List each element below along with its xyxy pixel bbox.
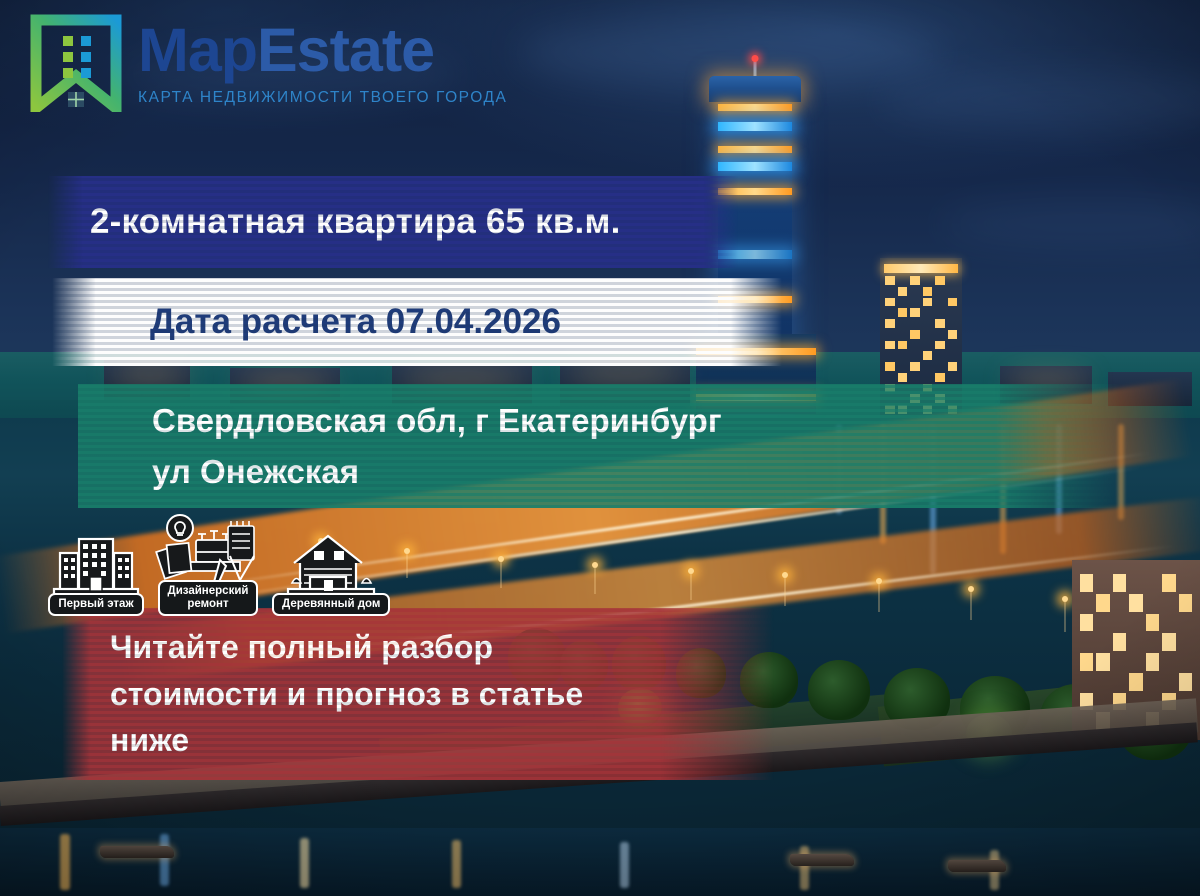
badge-label: Дизайнерский ремонт bbox=[158, 580, 259, 616]
address-line-2: ул Онежская bbox=[152, 446, 359, 497]
cta-banner[interactable]: Читайте полный разбор стоимости и прогно… bbox=[62, 608, 774, 780]
badge-first-floor[interactable]: Первый этаж bbox=[48, 531, 144, 616]
property-title-text: 2-комнатная квартира 65 кв.м. bbox=[90, 202, 738, 242]
brand-name-part1: Map bbox=[138, 16, 257, 84]
brand-tagline: КАРТА НЕДВИЖИМОСТИ ТВОЕГО ГОРОДА bbox=[138, 89, 507, 107]
cta-line-1: Читайте полный разбор bbox=[110, 624, 493, 670]
cta-line-3: ниже bbox=[110, 717, 189, 763]
wooden-house-icon bbox=[280, 531, 382, 599]
feature-badges: Первый этаж bbox=[48, 512, 390, 616]
interior-design-icon bbox=[152, 512, 264, 586]
brand-name-part2: Estate bbox=[257, 16, 434, 84]
address-banner: Свердловская обл, г Екатеринбург ул Онеж… bbox=[78, 384, 1120, 508]
apartment-building-icon bbox=[48, 531, 144, 599]
badge-wooden-house[interactable]: Деревянный дом bbox=[272, 531, 390, 616]
calculation-date-text: Дата расчета 07.04.2026 bbox=[150, 302, 782, 342]
badge-label: Деревянный дом bbox=[272, 593, 390, 616]
cta-line-2: стоимости и прогноз в статье bbox=[110, 671, 583, 717]
brand-name: MapEstate bbox=[138, 20, 507, 81]
address-line-1: Свердловская обл, г Екатеринбург bbox=[152, 395, 722, 446]
badge-label: Первый этаж bbox=[48, 593, 143, 616]
calculation-date-banner: Дата расчета 07.04.2026 bbox=[52, 278, 782, 366]
brand-logo[interactable]: MapEstate КАРТА НЕДВИЖИМОСТИ ТВОЕГО ГОРО… bbox=[30, 14, 507, 112]
bookmark-building-icon bbox=[30, 14, 122, 112]
promo-poster: MapEstate КАРТА НЕДВИЖИМОСТИ ТВОЕГО ГОРО… bbox=[0, 0, 1200, 896]
property-title-banner: 2-комнатная квартира 65 кв.м. bbox=[48, 176, 738, 268]
badge-designer-renovation[interactable]: Дизайнерский ремонт bbox=[152, 512, 264, 616]
